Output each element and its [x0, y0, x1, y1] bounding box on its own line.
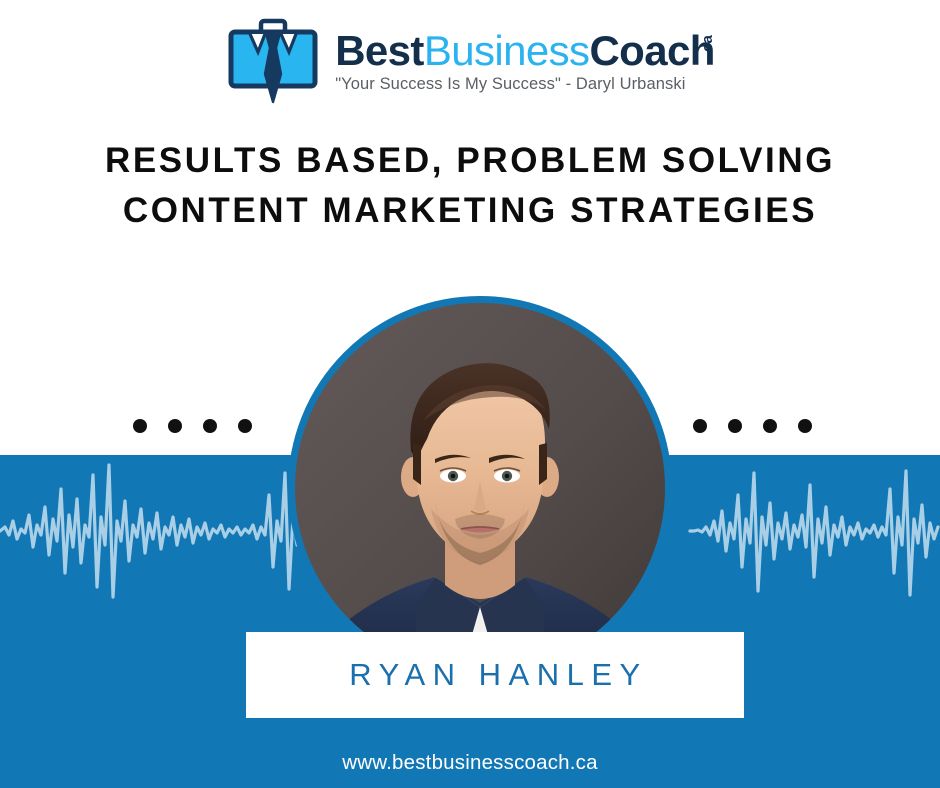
brand-name: BestBusinessCoach.ca	[335, 30, 715, 72]
brand-name-part-coach: Coach	[589, 27, 714, 74]
decorative-dots-right	[693, 419, 812, 433]
dot	[203, 419, 217, 433]
dot	[728, 419, 742, 433]
page-title-line-2: CONTENT MARKETING STRATEGIES	[30, 186, 910, 236]
brand-tagline: "Your Success Is My Success" - Daryl Urb…	[335, 75, 685, 94]
briefcase-with-necktie-icon	[225, 18, 321, 106]
guest-name-banner: RYAN HANLEY	[246, 632, 744, 718]
page-title: RESULTS BASED, PROBLEM SOLVING CONTENT M…	[30, 136, 910, 237]
dot	[168, 419, 182, 433]
podcast-cover-canvas: BestBusinessCoach.ca "Your Success Is My…	[0, 0, 940, 788]
guest-name: RYAN HANLEY	[342, 657, 647, 693]
footer-website-url: www.bestbusinesscoach.ca	[0, 751, 940, 775]
dot	[763, 419, 777, 433]
page-title-line-1: RESULTS BASED, PROBLEM SOLVING	[30, 136, 910, 186]
brand-tld: .ca	[700, 35, 715, 56]
decorative-dots-left	[133, 419, 252, 433]
brand-name-part-business: Business	[424, 27, 590, 74]
dot	[133, 419, 147, 433]
brand-name-part-best: Best	[335, 27, 424, 74]
dot	[238, 419, 252, 433]
dot	[798, 419, 812, 433]
dot	[693, 419, 707, 433]
brand-wordmark: BestBusinessCoach.ca "Your Success Is My…	[335, 30, 715, 94]
guest-portrait	[288, 296, 672, 680]
brand-logo: BestBusinessCoach.ca "Your Success Is My…	[0, 16, 940, 108]
